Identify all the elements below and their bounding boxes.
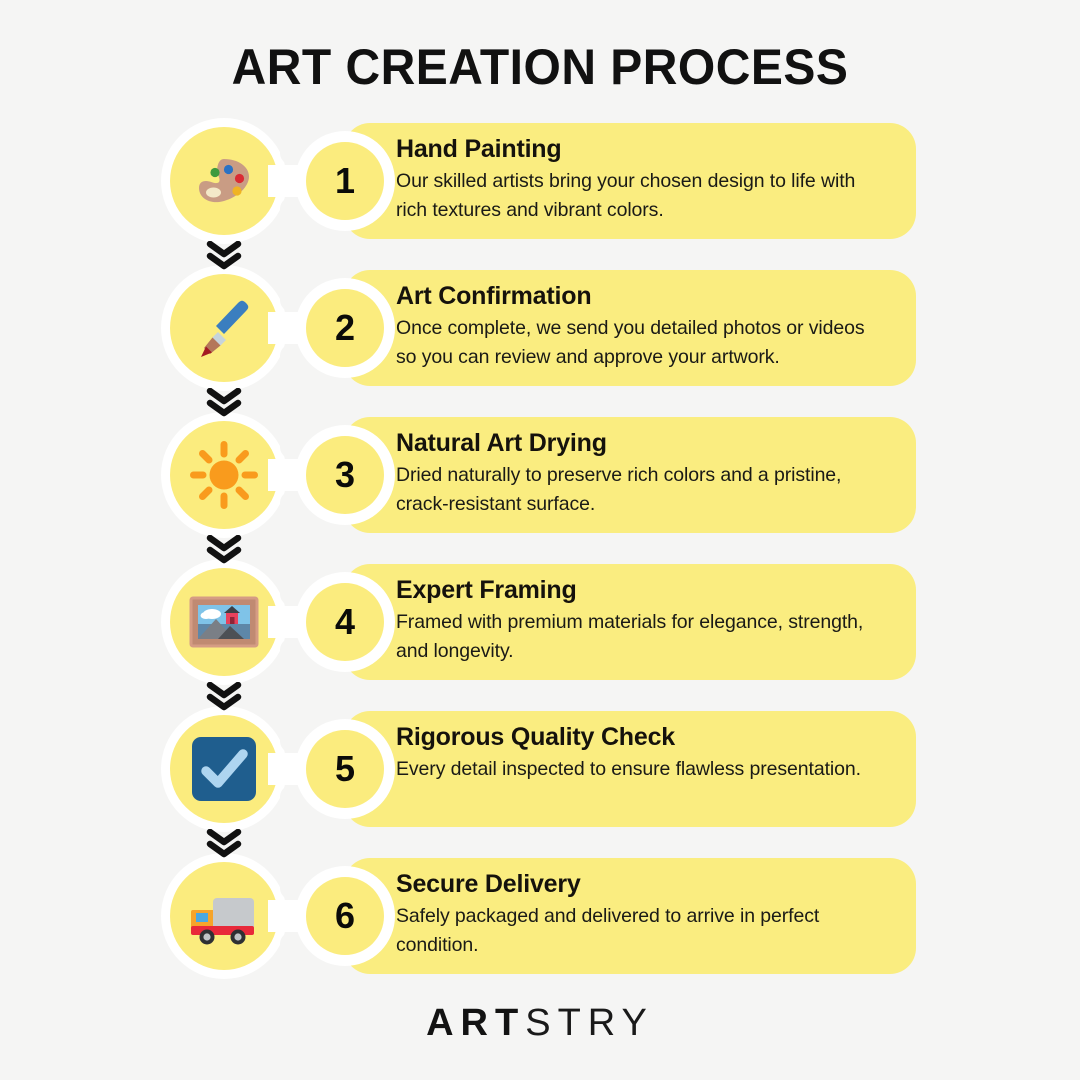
list-item[interactable]: 4 Expert Framing Framed with premium mat…	[0, 564, 1080, 680]
step-icon-bubble	[170, 715, 278, 823]
step-description: Once complete, we send you detailed phot…	[396, 314, 888, 371]
step-card: Art Confirmation Once complete, we send …	[344, 270, 916, 386]
step-number-badge: 1	[306, 142, 384, 220]
step-icon-bubble	[170, 568, 278, 676]
step-description: Safely packaged and delivered to arrive …	[396, 902, 888, 959]
step-card: Expert Framing Framed with premium mater…	[344, 564, 916, 680]
list-item[interactable]: 3 Natural Art Drying Dried naturally to …	[0, 417, 1080, 533]
list-item[interactable]: 5 Rigorous Quality Check Every detail in…	[0, 711, 1080, 827]
list-item[interactable]: 6 Secure Delivery Safely packaged and de…	[0, 858, 1080, 974]
step-description: Framed with premium materials for elegan…	[396, 608, 888, 665]
step-icon-bubble	[170, 127, 278, 235]
double-chevron-down-icon	[205, 241, 243, 271]
page-title: ART CREATION PROCESS	[22, 38, 1059, 96]
step-number-badge: 4	[306, 583, 384, 661]
sun-icon	[188, 439, 260, 511]
step-icon-bubble	[170, 421, 278, 529]
step-title: Art Confirmation	[396, 281, 888, 312]
step-number-badge: 2	[306, 289, 384, 367]
step-description: Our skilled artists bring your chosen de…	[396, 167, 888, 224]
check-box-icon	[188, 733, 260, 805]
step-icon-bubble	[170, 862, 278, 970]
step-card: Secure Delivery Safely packaged and deli…	[344, 858, 916, 974]
step-card: Natural Art Drying Dried naturally to pr…	[344, 417, 916, 533]
list-item[interactable]: 1 Hand Painting Our skilled artists brin…	[0, 123, 1080, 239]
brand-logo-bold: ART	[426, 1002, 525, 1044]
step-number-badge: 5	[306, 730, 384, 808]
step-description: Dried naturally to preserve rich colors …	[396, 461, 888, 518]
step-card: Hand Painting Our skilled artists bring …	[344, 123, 916, 239]
step-title: Hand Painting	[396, 134, 888, 165]
step-title: Natural Art Drying	[396, 428, 888, 459]
step-title: Secure Delivery	[396, 869, 888, 900]
double-chevron-down-icon	[205, 829, 243, 859]
step-title: Expert Framing	[396, 575, 888, 606]
process-steps-list: 1 Hand Painting Our skilled artists brin…	[0, 123, 1080, 974]
double-chevron-down-icon	[205, 535, 243, 565]
step-number-badge: 6	[306, 877, 384, 955]
step-icon-bubble	[170, 274, 278, 382]
step-title: Rigorous Quality Check	[396, 722, 888, 753]
brand-logo-light: STRY	[525, 1002, 654, 1044]
brand-logo: ARTSTRY	[0, 1002, 1080, 1045]
paintbrush-icon	[188, 292, 260, 364]
framed-picture-icon	[188, 586, 260, 658]
double-chevron-down-icon	[205, 682, 243, 712]
palette-icon	[188, 145, 260, 217]
delivery-truck-icon	[188, 880, 260, 952]
step-card: Rigorous Quality Check Every detail insp…	[344, 711, 916, 827]
step-description: Every detail inspected to ensure flawles…	[396, 755, 888, 784]
double-chevron-down-icon	[205, 388, 243, 418]
list-item[interactable]: 2 Art Confirmation Once complete, we sen…	[0, 270, 1080, 386]
step-number-badge: 3	[306, 436, 384, 514]
